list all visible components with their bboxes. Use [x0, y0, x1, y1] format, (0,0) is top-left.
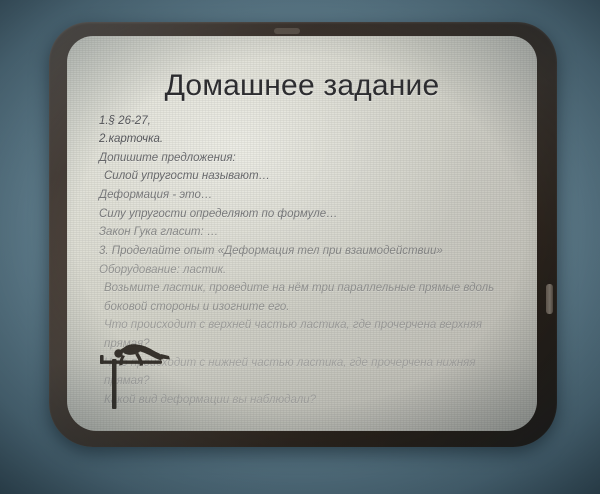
photo-frame: Домашнее задание 1.§ 26-27, 2.карточка. … — [0, 0, 600, 494]
slide-line: Силой упругости называют… — [99, 167, 509, 186]
slide-line: Допишите предложения: — [99, 149, 509, 168]
slide-line: Возьмите ластик, проведите на нём три па… — [99, 279, 509, 316]
slide-line: Закон Гука гласит: … — [99, 223, 509, 242]
display-bezel: Домашнее задание 1.§ 26-27, 2.карточка. … — [49, 22, 557, 447]
projection-screen: Домашнее задание 1.§ 26-27, 2.карточка. … — [67, 36, 537, 431]
bezel-sensor-icon — [274, 28, 300, 34]
slide-line: 1.§ 26-27, — [99, 112, 509, 131]
slide-line: Силу упругости определяют по формуле… — [99, 205, 509, 224]
slide-line: Деформация - это… — [99, 186, 509, 205]
slide-title: Домашнее задание — [89, 70, 515, 102]
slide-line: Оборудование: ластик. — [99, 261, 509, 280]
high-jumper-silhouette-icon — [91, 335, 183, 409]
bezel-side-button[interactable] — [546, 284, 553, 314]
slide-line: 2.карточка. — [99, 130, 509, 149]
slide-line: 3. Проделайте опыт «Деформация тел при в… — [99, 242, 509, 261]
